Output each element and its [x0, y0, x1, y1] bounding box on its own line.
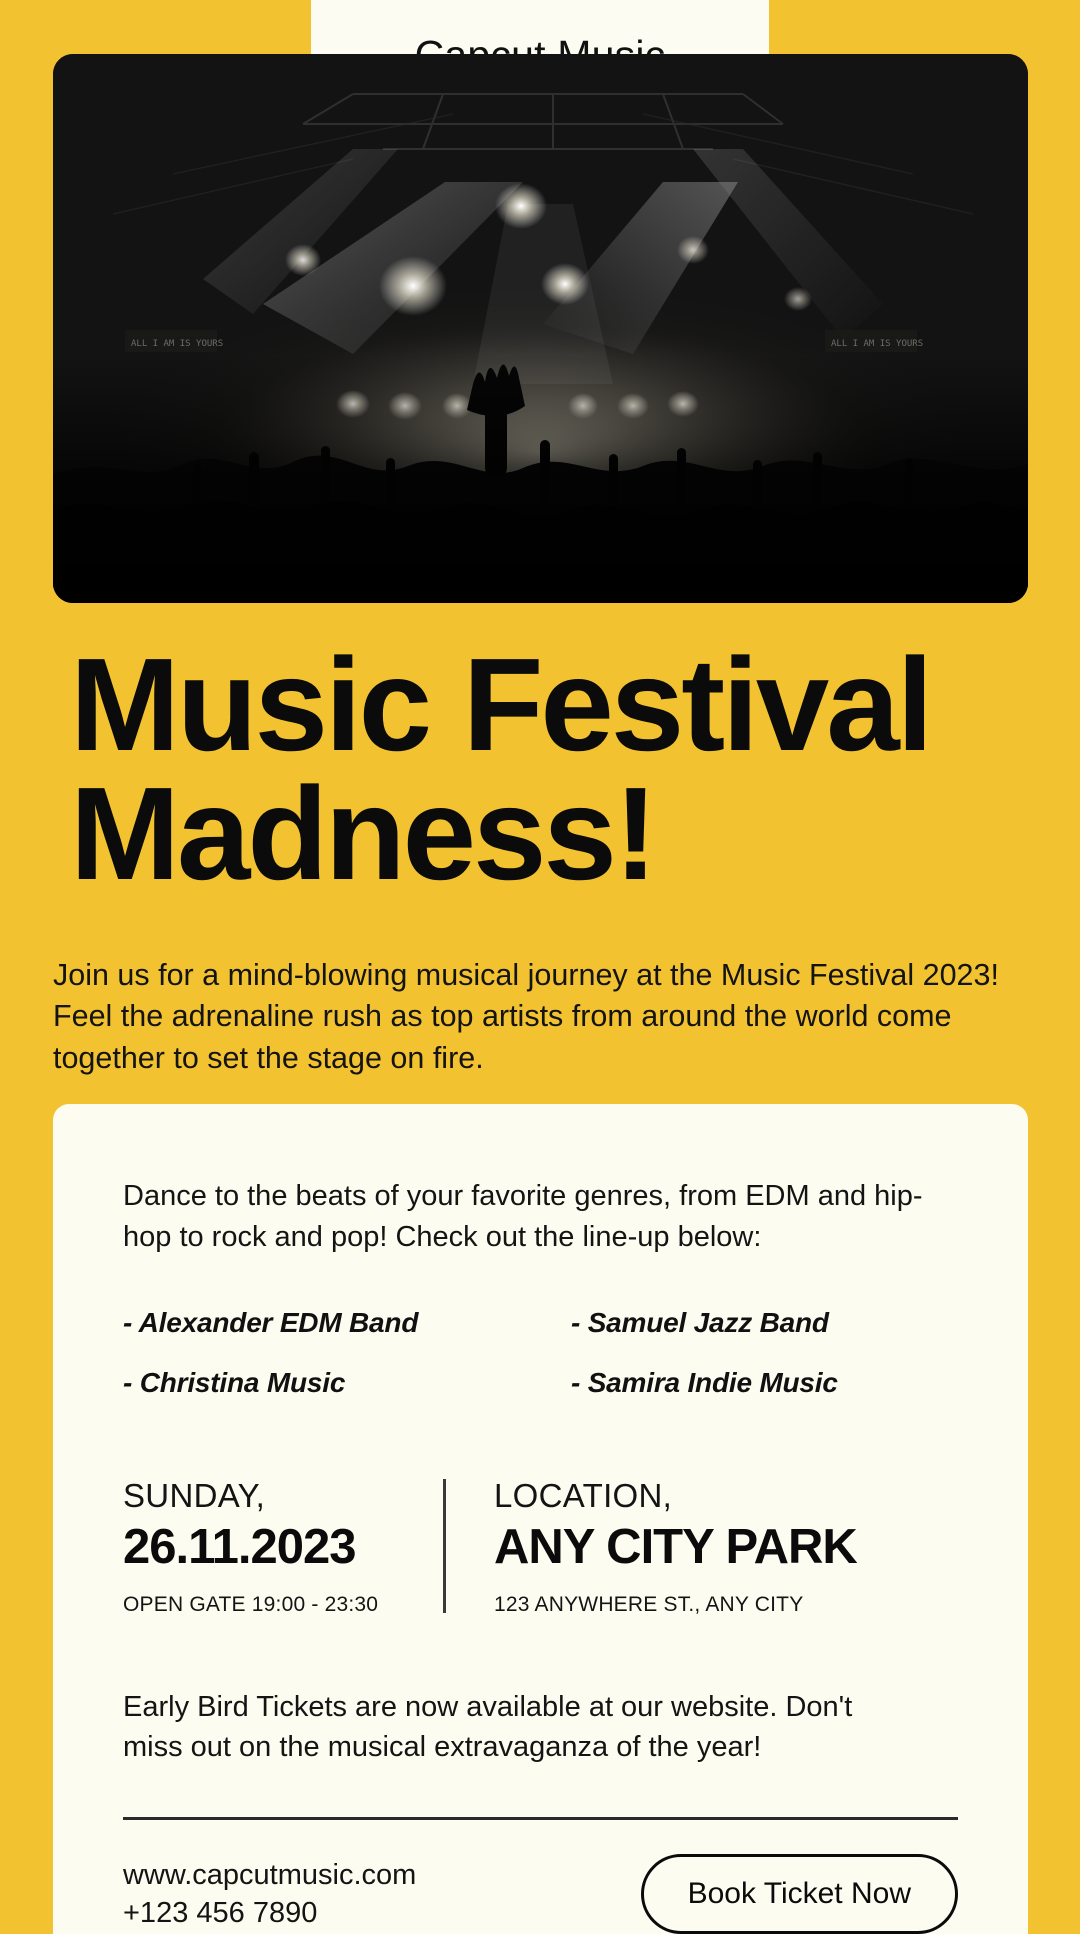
address: 123 ANYWHERE ST., ANY CITY — [494, 1593, 857, 1617]
page-title: Music Festival Madness! — [70, 640, 1030, 899]
card-footer: www.capcutmusic.com +123 456 7890 Book T… — [123, 1854, 958, 1934]
hero-photo: ALL I AM IS YOURS ALL I AM IS YOURS — [53, 54, 1028, 603]
horizontal-divider — [123, 1817, 958, 1820]
list-item: - Christina Music — [123, 1367, 571, 1399]
headline-line-2: Madness! — [70, 769, 1030, 898]
details-card: Dance to the beats of your favorite genr… — [53, 1104, 1028, 1934]
book-ticket-button[interactable]: Book Ticket Now — [641, 1854, 958, 1934]
list-item: - Samuel Jazz Band — [571, 1307, 958, 1339]
svg-text:ALL I AM IS YOURS: ALL I AM IS YOURS — [131, 339, 223, 349]
website-link[interactable]: www.capcutmusic.com — [123, 1856, 416, 1895]
location-label: LOCATION, — [494, 1475, 857, 1516]
event-location-column: LOCATION, ANY CITY PARK 123 ANYWHERE ST.… — [446, 1475, 857, 1617]
phone-number[interactable]: +123 456 7890 — [123, 1894, 416, 1933]
earlybird-paragraph: Early Bird Tickets are now available at … — [123, 1687, 913, 1767]
event-date-column: SUNDAY, 26.11.2023 OPEN GATE 19:00 - 23:… — [123, 1475, 443, 1617]
svg-text:ALL I AM IS YOURS: ALL I AM IS YOURS — [831, 339, 923, 349]
lineup-list: - Alexander EDM Band - Samuel Jazz Band … — [123, 1307, 958, 1399]
date-value: 26.11.2023 — [123, 1518, 443, 1577]
date-label: SUNDAY, — [123, 1475, 443, 1516]
list-item: - Samira Indie Music — [571, 1367, 958, 1399]
contact-info: www.capcutmusic.com +123 456 7890 — [123, 1856, 416, 1933]
list-item: - Alexander EDM Band — [123, 1307, 571, 1339]
location-value: ANY CITY PARK — [494, 1518, 857, 1577]
intro-paragraph: Join us for a mind-blowing musical journ… — [53, 955, 1043, 1079]
genres-paragraph: Dance to the beats of your favorite genr… — [123, 1104, 933, 1257]
gate-time: OPEN GATE 19:00 - 23:30 — [123, 1593, 443, 1617]
concert-photo-illustration: ALL I AM IS YOURS ALL I AM IS YOURS — [53, 54, 1028, 603]
headline-line-1: Music Festival — [70, 631, 930, 778]
event-details: SUNDAY, 26.11.2023 OPEN GATE 19:00 - 23:… — [123, 1475, 958, 1617]
